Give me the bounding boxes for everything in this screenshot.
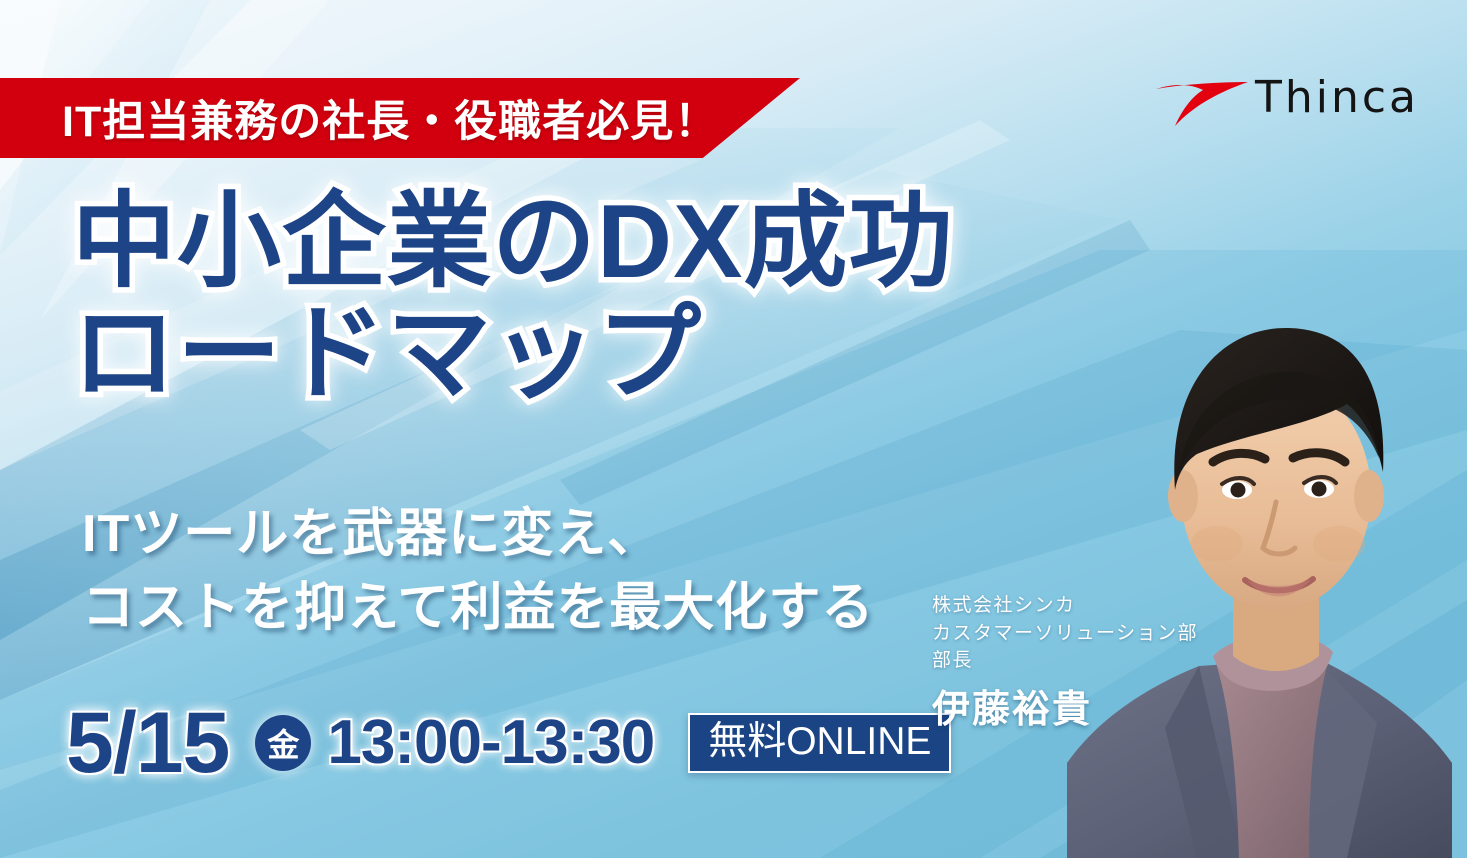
thinca-logo: Thinca	[1153, 66, 1419, 128]
title-line-1: 中小企業のDX成功	[72, 186, 953, 298]
speaker-role: 部長	[932, 647, 1198, 675]
event-date: 5/15	[66, 700, 229, 786]
free-online-badge: 無料ONLINE	[688, 713, 951, 773]
speaker-organization: 株式会社シンカ	[932, 592, 1198, 620]
ribbon-banner: IT担当兼務の社長・役職者必見！	[0, 78, 800, 158]
event-time: 13:00-13:30	[327, 712, 654, 774]
title-line-2: ロードマップ	[72, 298, 953, 410]
thinca-arrow-mark-icon	[1153, 66, 1249, 128]
speaker-info: 株式会社シンカ カスタマーソリューション部 部長 伊藤裕貴	[932, 592, 1198, 733]
speaker-department: カスタマーソリューション部	[932, 620, 1198, 648]
main-title: 中小企業のDX成功 ロードマップ	[72, 186, 953, 411]
event-day-of-week-badge: 金	[255, 715, 311, 771]
subtitle-line-1: ITツールを武器に変え、	[82, 498, 874, 572]
event-schedule: 5/15 金 13:00-13:30 無料ONLINE	[66, 700, 951, 786]
subtitle-line-2: コストを抑えて利益を最大化する	[82, 572, 874, 646]
webinar-banner: IT担当兼務の社長・役職者必見！ Thinca 中小企業のDX成功 ロードマップ…	[0, 0, 1467, 858]
subtitle: ITツールを武器に変え、 コストを抑えて利益を最大化する	[82, 498, 874, 646]
ribbon-label: IT担当兼務の社長・役職者必見！	[62, 87, 718, 149]
speaker-portrait-photo	[1047, 258, 1467, 858]
speaker-name: 伊藤裕貴	[932, 678, 1198, 733]
thinca-wordmark: Thinca	[1255, 72, 1419, 123]
